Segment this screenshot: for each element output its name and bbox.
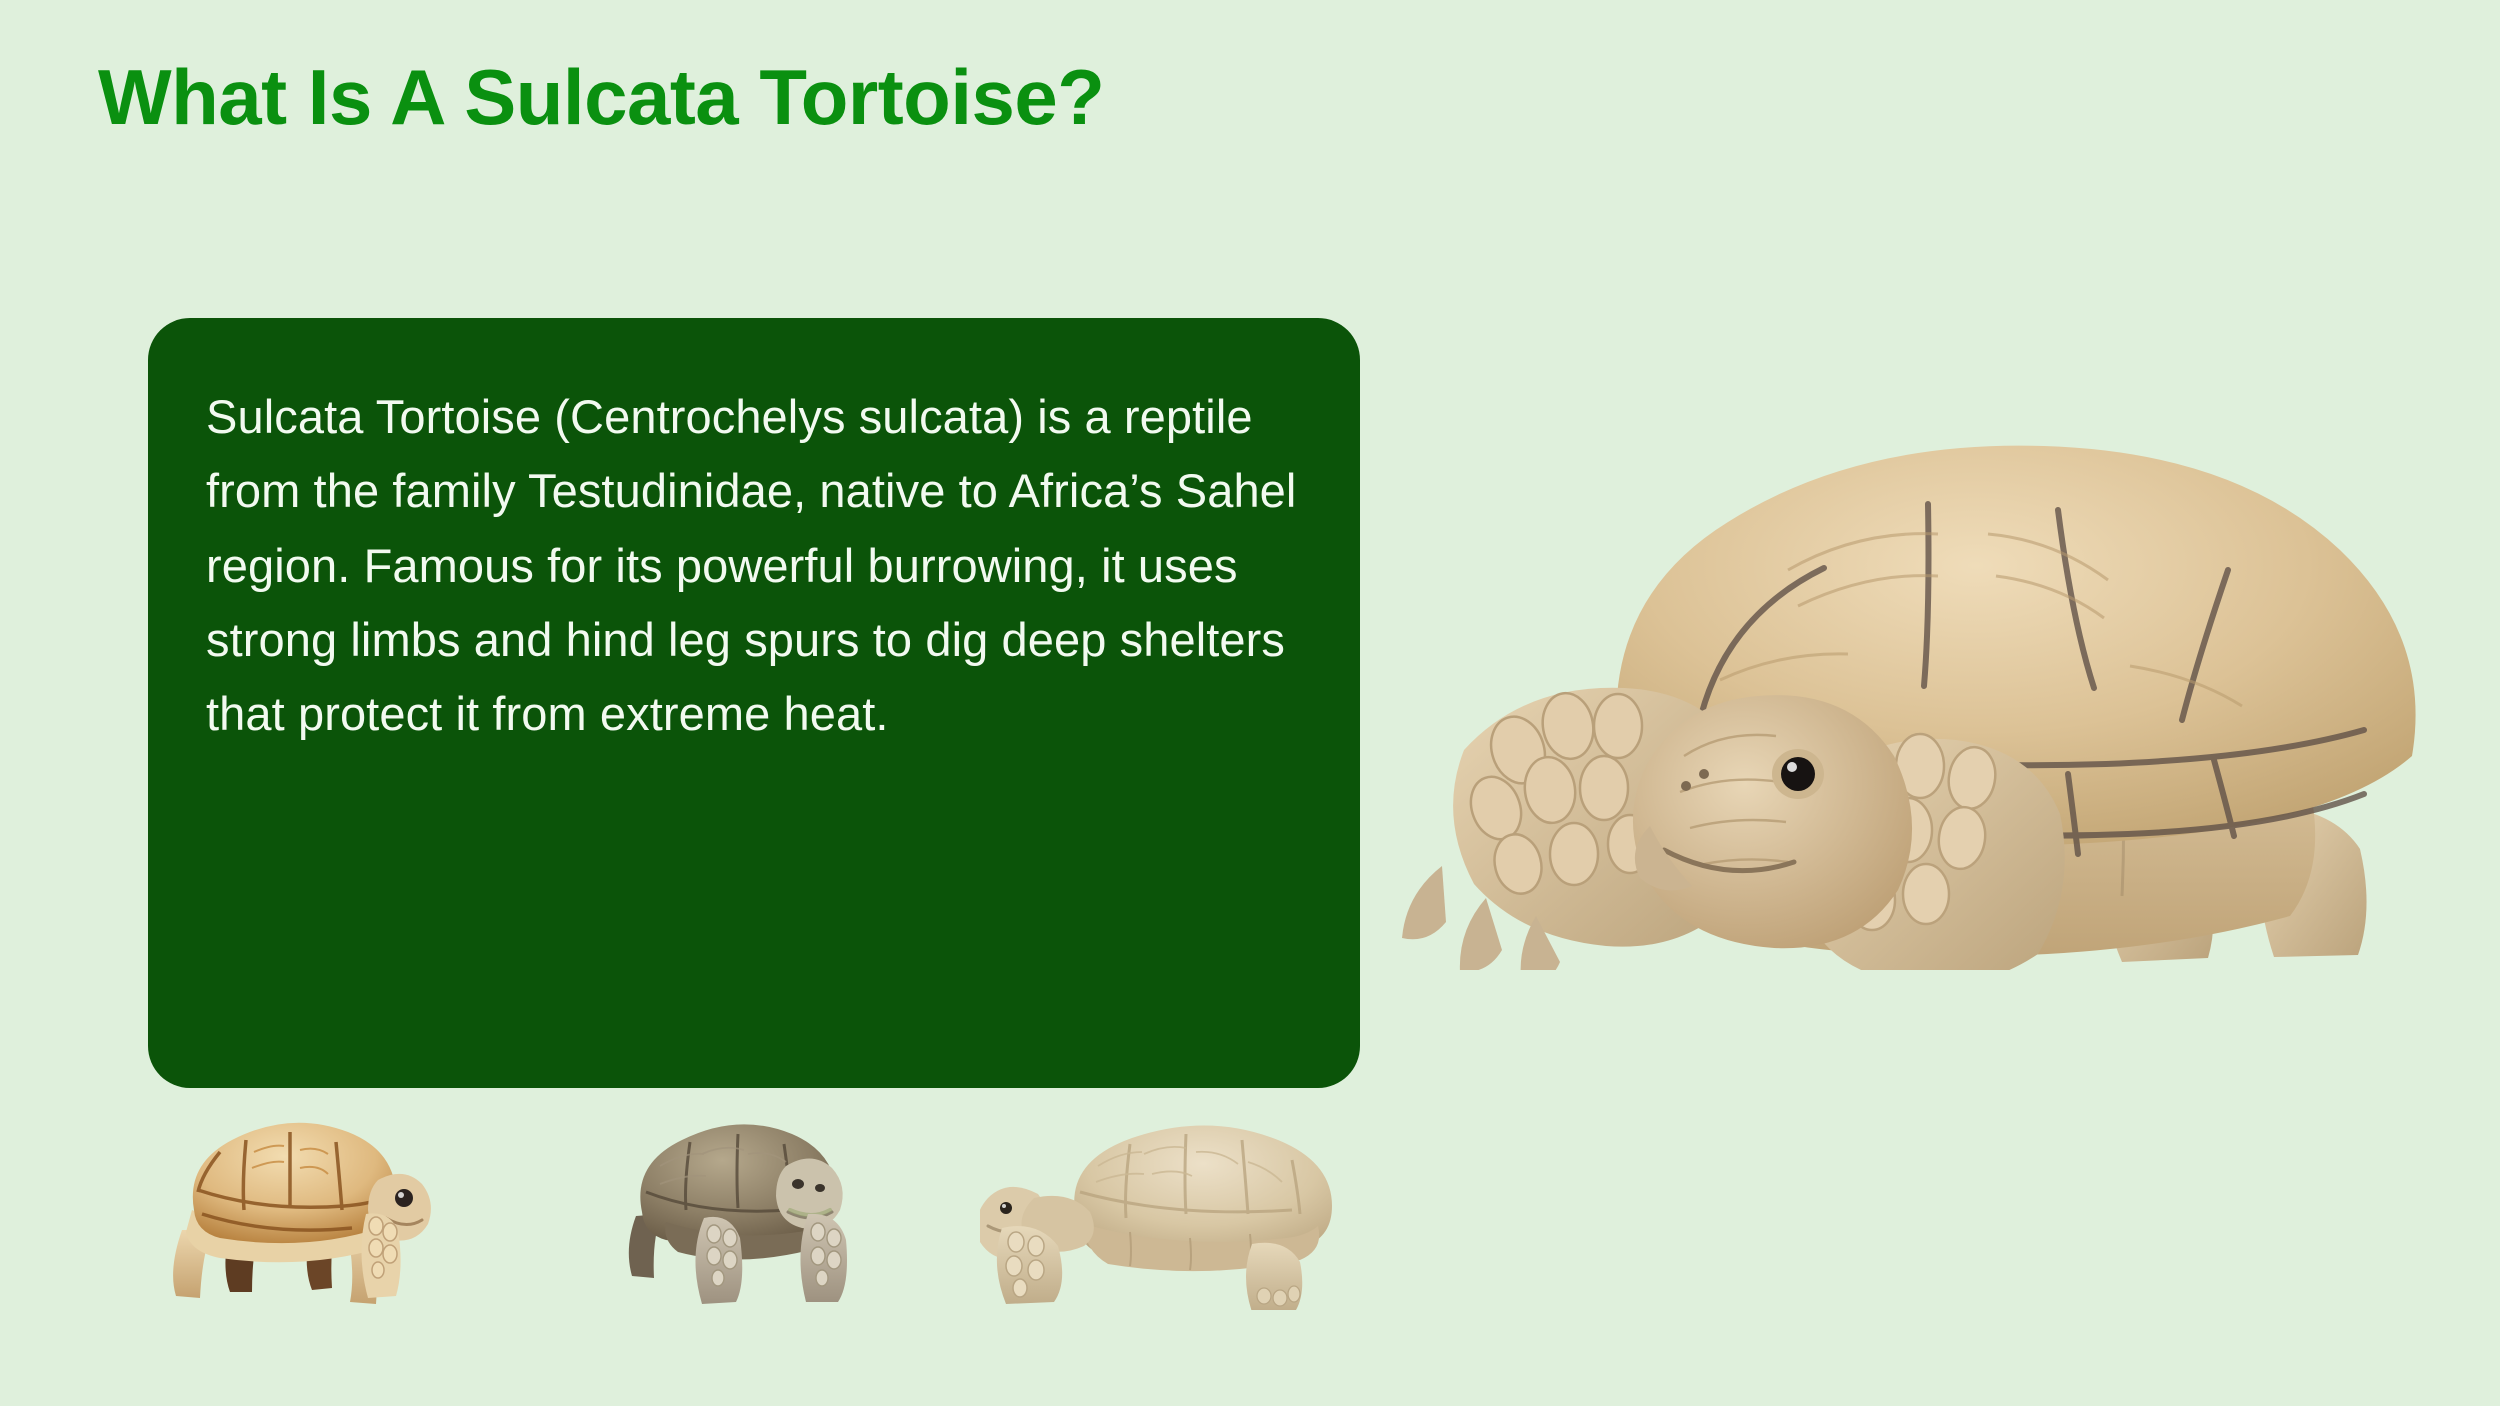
description-card: Sulcata Tortoise (Centrochelys sulcata) … (148, 318, 1360, 1088)
grey-sulcata-tortoise-photo (620, 1118, 900, 1308)
slide-root: What Is A Sulcata Tortoise? Sulcata Tort… (0, 0, 2500, 1406)
juvenile-sulcata-tortoise-photo (150, 1118, 450, 1308)
pale-sulcata-tortoise-photo (980, 1120, 1360, 1310)
page-title: What Is A Sulcata Tortoise? (98, 55, 1104, 141)
adult-sulcata-tortoise-photo (1368, 430, 2448, 970)
description-text: Sulcata Tortoise (Centrochelys sulcata) … (206, 380, 1302, 751)
